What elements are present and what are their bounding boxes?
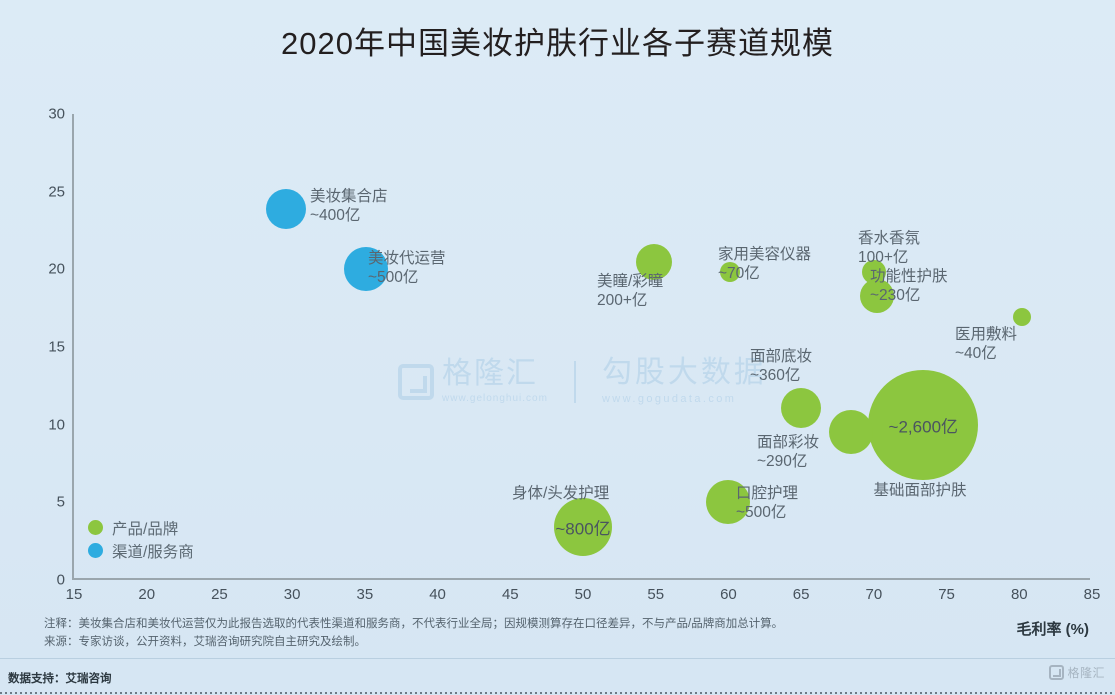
bubble-面部底妆[interactable] [781, 388, 821, 428]
bubble-label-size: ~400亿 [310, 207, 388, 226]
bubble-label-size: ~360亿 [750, 367, 812, 386]
footnote-note: 注释：美妆集合店和美妆代运营仅为此报告选取的代表性渠道和服务商，不代表行业全局；… [44, 616, 783, 634]
bubble-label-基础面部护肤: 基础面部护肤 [873, 482, 966, 501]
y-axis-tick: 25 [48, 183, 65, 200]
bubble-基础面部护肤-附属[interactable] [829, 410, 873, 454]
plot-canvas: 0510152025301520253035404550556065707580… [74, 114, 1090, 578]
x-axis-tick: 75 [938, 586, 955, 603]
bubble-label-家用美容仪器: 家用美容仪器~70亿 [718, 246, 811, 284]
bubble-label-name: 基础面部护肤 [873, 482, 966, 499]
x-axis-tick: 50 [575, 586, 592, 603]
legend-item-channel: 渠道/服务商 [88, 539, 194, 562]
footer-logo-text: 格隆汇 [1067, 664, 1105, 681]
legend-label-channel: 渠道/服务商 [112, 540, 194, 562]
bubble-label-size: ~230亿 [870, 287, 948, 306]
bubble-label-name: 美瞳/彩瞳 [597, 273, 663, 290]
legend-label-product: 产品/品牌 [112, 517, 178, 539]
bubble-label-身体/头发护理: 身体/头发护理 [512, 485, 609, 504]
footer-dotted-rule [0, 692, 1115, 694]
chart-page: 2020年中国美妆护肤行业各子赛道规模 05101520253015202530… [0, 0, 1115, 695]
bubble-身体/头发护理[interactable] [554, 498, 612, 556]
x-axis-tick: 15 [66, 586, 83, 603]
bubble-label-面部底妆: 面部底妆~360亿 [750, 348, 812, 386]
bubble-label-size: ~70亿 [718, 265, 811, 284]
bubble-label-name: 口腔护理 [736, 485, 798, 502]
plot-area: 0510152025301520253035404550556065707580… [72, 114, 1090, 580]
bubble-label-name: 面部底妆 [750, 348, 812, 365]
x-axis-tick: 30 [284, 586, 301, 603]
y-axis-tick: 20 [48, 261, 65, 278]
bubble-label-name: 家用美容仪器 [718, 246, 811, 263]
bubble-label-name: 香水香氛 [858, 230, 920, 247]
legend-dot-product-icon [88, 520, 103, 535]
legend-dot-channel-icon [88, 543, 103, 558]
x-axis-tick: 70 [866, 586, 883, 603]
bubble-label-name: 医用敷料 [955, 326, 1017, 343]
x-axis-tick: 85 [1084, 586, 1101, 603]
bubble-label-name: 面部彩妆 [757, 434, 819, 451]
y-axis-tick: 5 [57, 494, 65, 511]
bubble-医用敷料[interactable] [1013, 308, 1031, 326]
bubble-label-医用敷料: 医用敷料~40亿 [955, 326, 1017, 364]
x-axis-tick: 20 [138, 586, 155, 603]
x-axis-title: 毛利率 (%) [1017, 618, 1090, 639]
bubble-label-size: ~40亿 [955, 345, 1017, 364]
gelonghui-mark-icon [1049, 665, 1064, 680]
bubble-label-size: 100+亿 [858, 249, 920, 268]
footer-divider [0, 658, 1115, 659]
x-axis-tick: 45 [502, 586, 519, 603]
bubble-label-name: 美妆集合店 [310, 188, 388, 205]
legend-item-product: 产品/品牌 [88, 516, 194, 539]
bubble-label-美妆集合店: 美妆集合店~400亿 [310, 188, 388, 226]
footer-logo: 格隆汇 [1049, 664, 1105, 681]
bubble-label-美妆代运营: 美妆代运营~500亿 [368, 250, 446, 288]
bubble-label-香水香氛: 香水香氛100+亿 [858, 230, 920, 268]
x-axis-tick: 80 [1011, 586, 1028, 603]
x-axis-tick: 60 [720, 586, 737, 603]
y-axis-tick: 0 [57, 572, 65, 589]
bubble-label-size: ~500亿 [736, 504, 798, 523]
bubble-label-name: 身体/头发护理 [512, 485, 609, 502]
y-axis-tick: 30 [48, 106, 65, 123]
x-axis-tick: 25 [211, 586, 228, 603]
bubble-label-美瞳/彩瞳: 美瞳/彩瞳200+亿 [597, 273, 663, 311]
bubble-label-name: 美妆代运营 [368, 250, 446, 267]
bubble-label-size: ~500亿 [368, 269, 446, 288]
bubble-label-面部彩妆: 面部彩妆~290亿 [757, 434, 819, 472]
bubble-美妆集合店[interactable] [266, 189, 306, 229]
bubble-label-size: ~290亿 [757, 453, 819, 472]
x-axis-tick: 65 [793, 586, 810, 603]
x-axis-tick: 35 [357, 586, 374, 603]
footnotes: 注释：美妆集合店和美妆代运营仅为此报告选取的代表性渠道和服务商，不代表行业全局；… [44, 616, 783, 652]
bubble-基础面部护肤[interactable] [868, 370, 978, 480]
x-axis-tick: 55 [647, 586, 664, 603]
footnote-source: 来源：专家访谈，公开资料，艾瑞咨询研究院自主研究及绘制。 [44, 634, 783, 652]
y-axis-tick: 15 [48, 339, 65, 356]
legend: 产品/品牌 渠道/服务商 [88, 516, 194, 562]
bubble-label-name: 功能性护肤 [870, 268, 948, 285]
x-axis-tick: 40 [429, 586, 446, 603]
bubble-label-功能性护肤: 功能性护肤~230亿 [870, 268, 948, 306]
bubble-label-size: 200+亿 [597, 292, 663, 311]
page-title: 2020年中国美妆护肤行业各子赛道规模 [0, 18, 1115, 63]
y-axis-tick: 10 [48, 416, 65, 433]
bubble-label-口腔护理: 口腔护理~500亿 [736, 485, 798, 523]
data-support-note: 数据支持：艾瑞咨询 [8, 670, 112, 686]
